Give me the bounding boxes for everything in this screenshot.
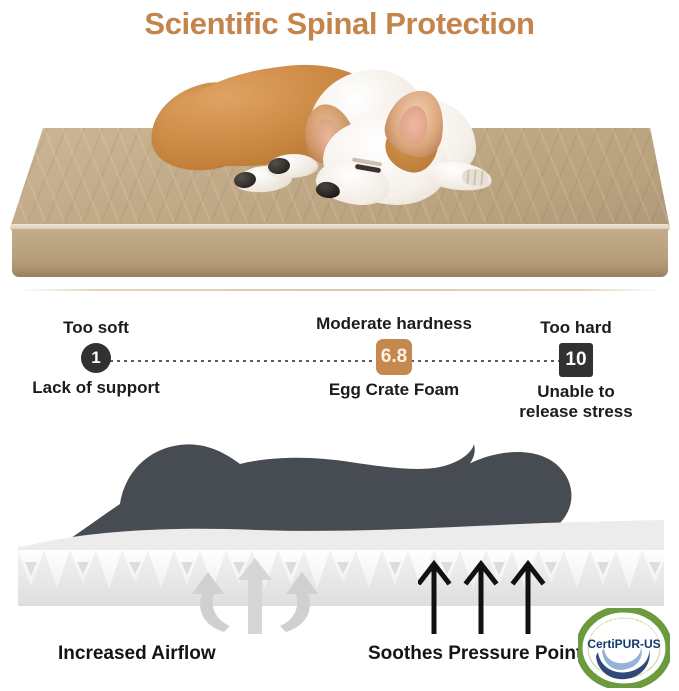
scale-badge-6-8: 6.8 bbox=[376, 339, 412, 375]
scale-mark-top-label: Moderate hardness bbox=[316, 314, 472, 334]
increased-airflow-arrows-icon bbox=[190, 554, 320, 634]
infographic-page: Scientific Spinal Protection bbox=[0, 0, 679, 691]
scale-mark-top-label: Too hard bbox=[540, 318, 611, 338]
scale-bottom-line-1: Unable to bbox=[537, 382, 614, 401]
scale-badge-10: 10 bbox=[559, 343, 593, 377]
certipur-brand-certi: Certi bbox=[587, 637, 614, 651]
scale-mark-moderate: Moderate hardness 6.8 Egg Crate Foam bbox=[318, 314, 470, 400]
label-soothes-pressure-points: Soothes Pressure Points bbox=[368, 643, 593, 665]
scale-mark-bottom-label: Unable to release stress bbox=[519, 382, 632, 421]
egg-crate-foam-illustration bbox=[18, 516, 664, 612]
scale-mark-bottom-label: Egg Crate Foam bbox=[329, 380, 459, 400]
section-divider bbox=[18, 289, 661, 291]
certipur-brand-us: -US bbox=[640, 637, 661, 651]
label-increased-airflow: Increased Airflow bbox=[58, 643, 216, 665]
scale-mark-too-soft: Too soft 1 Lack of support bbox=[32, 318, 160, 398]
corgi-dog-photo bbox=[150, 54, 530, 244]
page-title-container: Scientific Spinal Protection bbox=[0, 0, 679, 48]
scale-bottom-line-2: release stress bbox=[519, 402, 632, 421]
scale-badge-1: 1 bbox=[81, 343, 111, 373]
scale-mark-bottom-label: Lack of support bbox=[32, 378, 160, 398]
scale-mark-top-label: Too soft bbox=[63, 318, 129, 338]
certipur-us-badge-icon: CONTAINS CERTIFIED FLEXIBLE POLYURETHANE… bbox=[578, 608, 670, 688]
soothes-pressure-points-arrows-icon bbox=[418, 556, 548, 634]
hero-product-photo bbox=[0, 46, 679, 289]
certipur-brand-pur: PUR bbox=[615, 637, 641, 651]
scale-mark-too-hard: Too hard 10 Unable to release stress bbox=[512, 318, 640, 421]
hardness-scale: Too soft 1 Lack of support Moderate hard… bbox=[0, 300, 679, 418]
page-title: Scientific Spinal Protection bbox=[144, 6, 534, 42]
svg-text:CertiPUR-US: CertiPUR-US bbox=[587, 637, 660, 651]
